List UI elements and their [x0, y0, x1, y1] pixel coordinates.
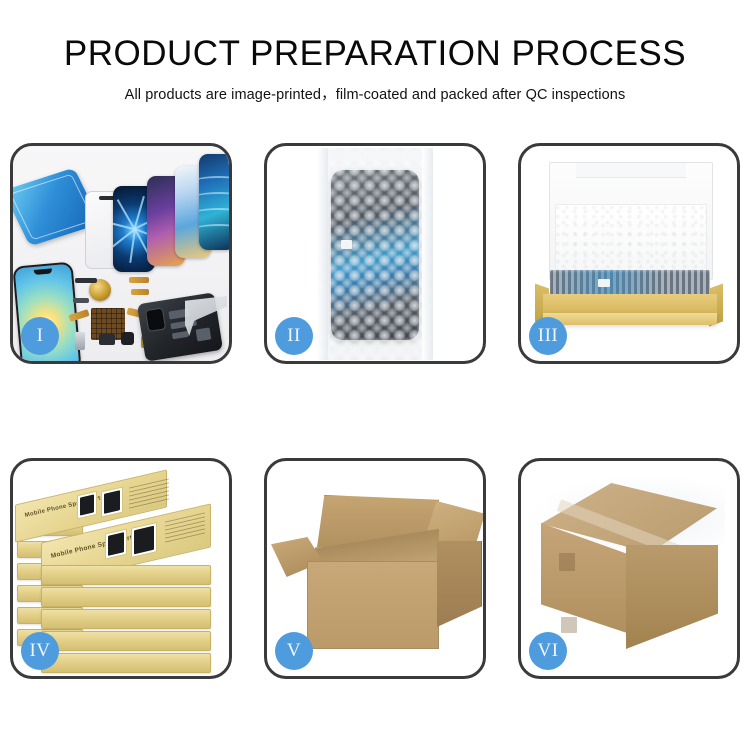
- carton-front-face: [307, 561, 439, 649]
- retail-box-edge: [41, 631, 211, 651]
- bubble-wrap-texture-offset: [317, 148, 433, 360]
- flex-cable-part-icon-1: [129, 277, 149, 283]
- wrap-seal-right: [422, 148, 433, 360]
- camera-module-part-icon: [121, 332, 134, 345]
- step-badge-3: III: [529, 317, 567, 355]
- retail-box-window-2b: [131, 522, 157, 558]
- process-step-panel-3[interactable]: III: [518, 143, 740, 364]
- retail-box-edge: [41, 609, 211, 629]
- carton-handle-tab-icon: [561, 617, 577, 633]
- retail-box-window-2a: [105, 528, 127, 559]
- camera-lens-icon: [145, 307, 166, 332]
- process-step-panel-5[interactable]: V: [264, 458, 486, 679]
- page-subtitle: All products are image-printed，film-coat…: [0, 83, 750, 104]
- carton-side-face: [437, 541, 482, 627]
- process-step-panel-2[interactable]: II: [264, 143, 486, 364]
- part-label-tag: [598, 279, 610, 287]
- retail-box-edge: [41, 653, 211, 673]
- wrap-seal-left: [317, 148, 328, 360]
- connector-part-icon: [75, 278, 97, 283]
- process-step-panel-1[interactable]: I: [10, 143, 232, 364]
- process-step-panel-4[interactable]: Mobile Phone Spare Parts Mobile Phone Sp…: [10, 458, 232, 679]
- step-badge-1: I: [21, 317, 59, 355]
- retail-box-window-1b: [101, 486, 123, 517]
- speaker-part-icon: [99, 334, 115, 345]
- carton-handle-tab-icon: [559, 553, 575, 571]
- step-badge-5: V: [275, 632, 313, 670]
- process-step-grid: I II III: [10, 143, 740, 679]
- bracket-part-icon: [73, 298, 89, 303]
- sealed-carton-right-face: [626, 545, 718, 649]
- step-badge-6: VI: [529, 632, 567, 670]
- white-foam-padding-icon: [555, 204, 707, 272]
- flex-cable-part-icon-2: [131, 289, 149, 295]
- retail-box-edge: [41, 565, 211, 585]
- battery-part-icon: [75, 332, 85, 350]
- page-header: PRODUCT PREPARATION PROCESS All products…: [0, 0, 750, 104]
- process-step-panel-6[interactable]: VI: [518, 458, 740, 679]
- retail-box-window-1a: [77, 491, 97, 520]
- page-title: PRODUCT PREPARATION PROCESS: [0, 36, 750, 71]
- retail-box-edge: [41, 587, 211, 607]
- kraft-box-front-edge: [543, 313, 717, 325]
- step-badge-2: II: [275, 317, 313, 355]
- phone-display-blue-icon: [199, 154, 229, 250]
- step-badge-4: IV: [21, 632, 59, 670]
- packed-wrapped-parts-icon: [550, 270, 710, 296]
